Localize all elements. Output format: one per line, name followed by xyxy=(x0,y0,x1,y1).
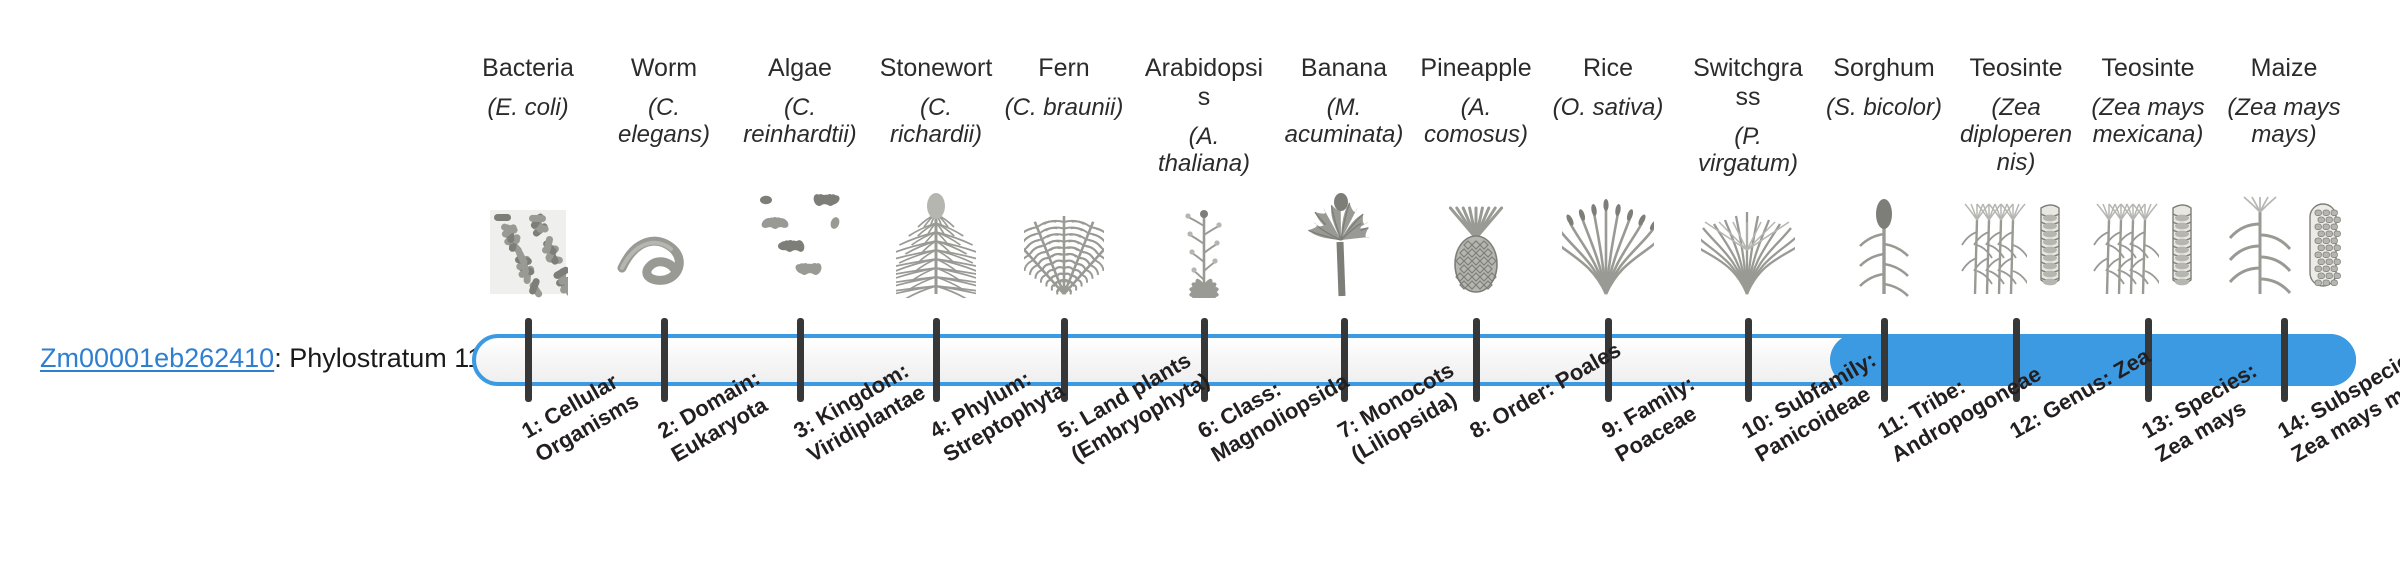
rice-illustration xyxy=(1543,178,1673,298)
species-column-1: Bacteria(E. coli) xyxy=(468,54,588,121)
species-latin-name: (C. reinhardtii) xyxy=(740,94,860,149)
species-common-name: Stonewort xyxy=(876,54,996,83)
species-latin-name: (S. bicolor) xyxy=(1824,94,1944,121)
sorghum-illustration xyxy=(1819,178,1949,298)
species-column-10: Switchgrass(P. virgatum) xyxy=(1688,54,1808,178)
banana-illustration xyxy=(1279,178,1409,298)
teosinte-illustration xyxy=(1951,178,2081,298)
species-latin-name: (C. braunii) xyxy=(1004,94,1124,121)
species-latin-name: (M. acuminata) xyxy=(1284,94,1404,149)
species-common-name: Switchgrass xyxy=(1688,54,1808,112)
algae-illustration xyxy=(735,178,865,298)
species-latin-name: (C. richardii) xyxy=(876,94,996,149)
species-column-5: Fern(C. braunii) xyxy=(1004,54,1124,121)
species-latin-name: (Zea mays mays) xyxy=(2224,94,2344,149)
species-column-11: Sorghum(S. bicolor) xyxy=(1824,54,1944,121)
species-common-name: Teosinte xyxy=(1956,54,2076,83)
species-column-8: Pineapple(A. comosus) xyxy=(1416,54,1536,149)
species-common-name: Rice xyxy=(1548,54,1668,83)
species-common-name: Teosinte xyxy=(2088,54,2208,83)
fern-illustration xyxy=(999,178,1129,298)
species-common-name: Banana xyxy=(1284,54,1404,83)
species-column-14: Maize(Zea mays mays) xyxy=(2224,54,2344,149)
switchgrass-illustration xyxy=(1683,178,1813,298)
species-common-name: Pineapple xyxy=(1416,54,1536,83)
species-common-name: Fern xyxy=(1004,54,1124,83)
species-column-6: Arabidopsis(A. thaliana) xyxy=(1144,54,1264,178)
gene-id-link[interactable]: Zm00001eb262410 xyxy=(40,343,274,373)
species-column-2: Worm(C. elegans) xyxy=(604,54,724,149)
species-column-4: Stonewort(C. richardii) xyxy=(876,54,996,149)
worm-illustration xyxy=(599,178,729,298)
gene-label-separator: : xyxy=(274,343,289,373)
species-common-name: Algae xyxy=(740,54,860,83)
species-common-name: Worm xyxy=(604,54,724,83)
species-latin-name: (Zea mays mexicana) xyxy=(2088,94,2208,149)
species-latin-name: (A. comosus) xyxy=(1416,94,1536,149)
species-latin-name: (E. coli) xyxy=(468,94,588,121)
species-column-13: Teosinte(Zea mays mexicana) xyxy=(2088,54,2208,149)
arabidopsis-illustration xyxy=(1139,178,1269,298)
tick-mark-1 xyxy=(525,318,532,402)
species-column-3: Algae(C. reinhardtii) xyxy=(740,54,860,149)
species-latin-name: (Zea diploperennis) xyxy=(1956,94,2076,176)
species-common-name: Maize xyxy=(2224,54,2344,83)
teosinte-illustration xyxy=(2083,178,2213,298)
gene-phylostratum-label: Zm00001eb262410: Phylostratum 11 xyxy=(40,344,460,374)
bacteria-illustration xyxy=(463,178,593,298)
species-latin-name: (A. thaliana) xyxy=(1144,123,1264,178)
species-latin-name: (O. sativa) xyxy=(1548,94,1668,121)
pineapple-illustration xyxy=(1411,178,1541,298)
species-column-9: Rice(O. sativa) xyxy=(1548,54,1668,121)
species-latin-name: (C. elegans) xyxy=(604,94,724,149)
maize-illustration xyxy=(2219,178,2349,298)
species-column-7: Banana(M. acuminata) xyxy=(1284,54,1404,149)
species-common-name: Bacteria xyxy=(468,54,588,83)
species-common-name: Sorghum xyxy=(1824,54,1944,83)
stonewort-illustration xyxy=(871,178,1001,298)
species-latin-name: (P. virgatum) xyxy=(1688,123,1808,178)
phylostratum-visualization: Zm00001eb262410: Phylostratum 11 Bacteri… xyxy=(0,0,2400,580)
species-common-name: Arabidopsis xyxy=(1144,54,1264,112)
phylostratum-value: Phylostratum 11 xyxy=(289,343,482,373)
species-column-12: Teosinte(Zea diploperennis) xyxy=(1956,54,2076,176)
